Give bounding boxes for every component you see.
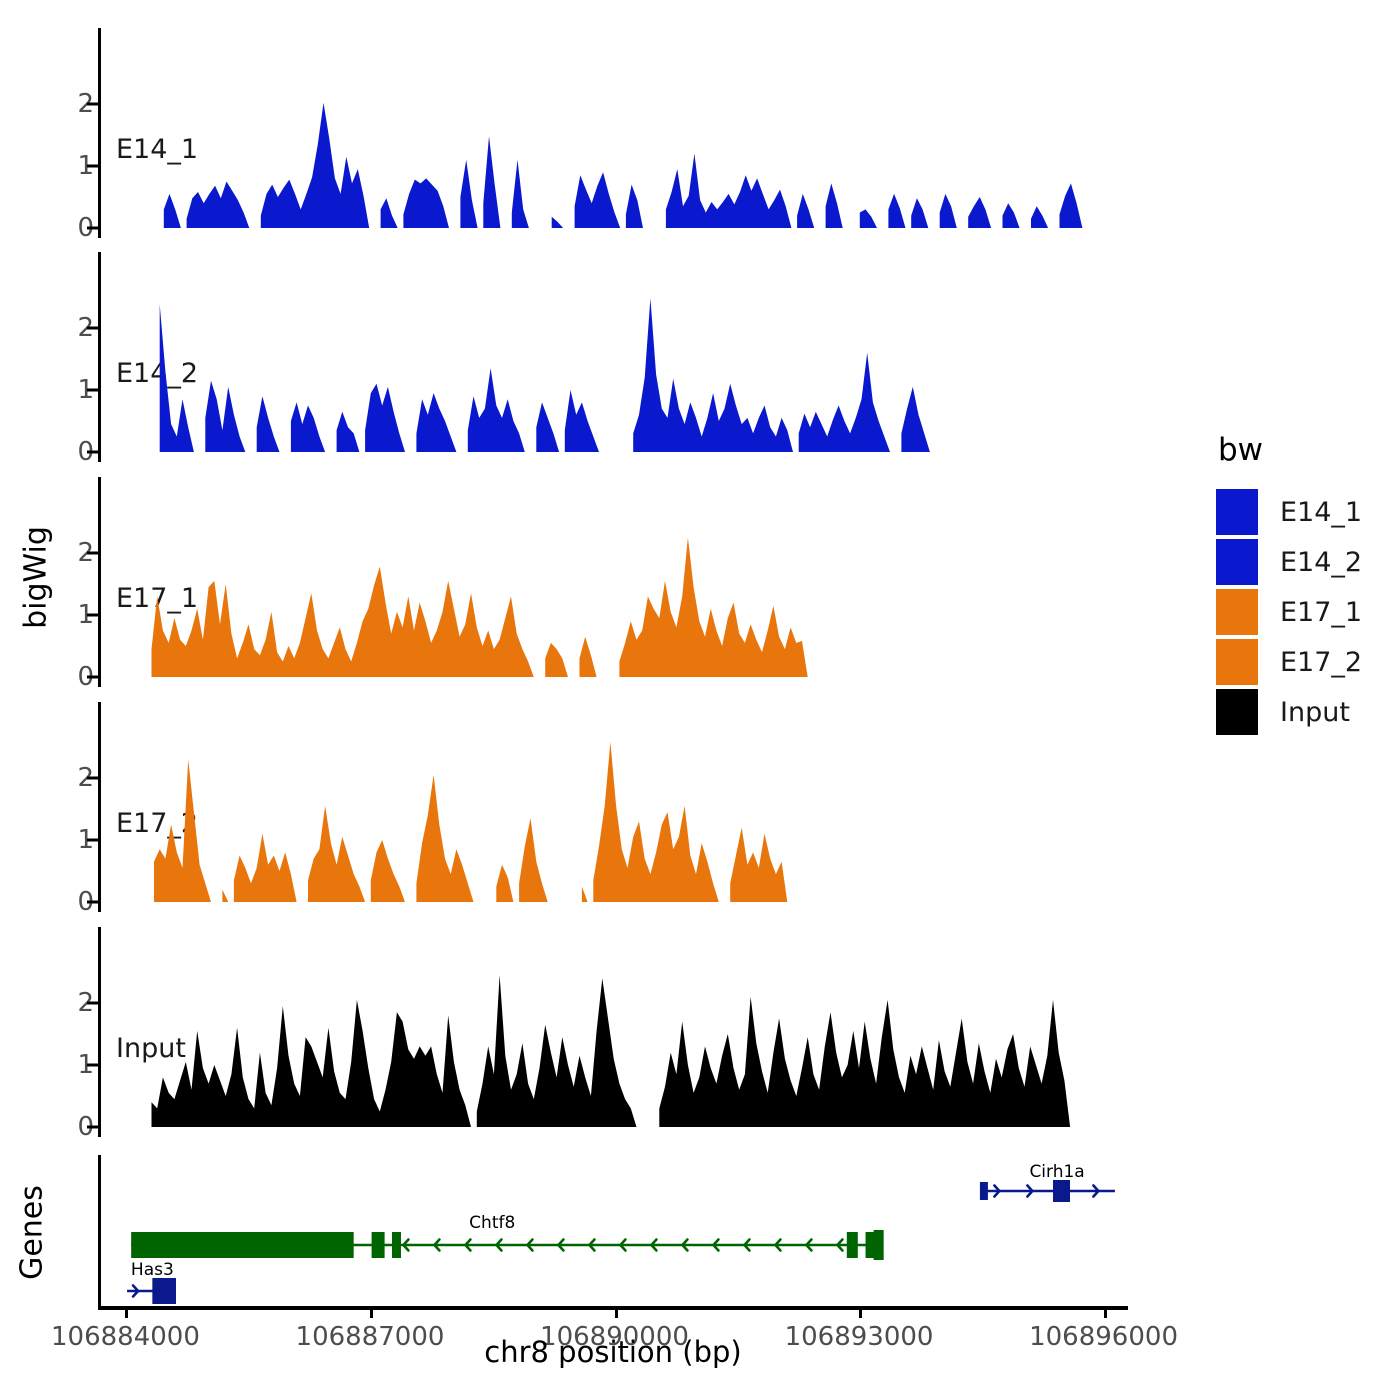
x-tick-mark xyxy=(615,1306,618,1318)
legend-item-e14_2[interactable]: E14_2 xyxy=(1216,538,1396,586)
x-tick-mark xyxy=(1104,1306,1107,1318)
legend-item-e17_1[interactable]: E17_1 xyxy=(1216,588,1396,636)
legend-title: bw xyxy=(1218,432,1396,468)
y-tick-mark xyxy=(87,165,98,168)
track-panel-e17_2: 012E17_2 xyxy=(98,702,1128,912)
y-tick-mark xyxy=(87,676,98,679)
y-tick-mark xyxy=(87,327,98,330)
legend-item-input[interactable]: Input xyxy=(1216,688,1396,736)
genes-drawing: Cirh1aChtf8Has3 xyxy=(101,1155,1128,1307)
track-plot-area xyxy=(101,927,1128,1137)
track-plot-area xyxy=(101,702,1128,912)
y-tick-mark xyxy=(87,777,98,780)
genes-track-panel: Cirh1aChtf8Has3 xyxy=(98,1155,1128,1310)
legend-item-e14_1[interactable]: E14_1 xyxy=(1216,488,1396,536)
legend-swatch xyxy=(1216,689,1258,735)
legend-swatch xyxy=(1216,639,1258,685)
legend-label: E14_1 xyxy=(1280,497,1362,528)
track-panel-input: 012Input xyxy=(98,927,1128,1137)
track-plot-area xyxy=(101,28,1128,238)
legend-items: E14_1E14_2E17_1E17_2Input xyxy=(1216,488,1396,736)
legend-label: E14_2 xyxy=(1280,547,1362,578)
gene-has3[interactable]: Has3 xyxy=(127,1260,176,1304)
x-tick-mark xyxy=(125,1306,128,1318)
legend-label: Input xyxy=(1280,697,1350,728)
legend: bw E14_1E14_2E17_1E17_2Input xyxy=(1216,432,1396,738)
track-panel-e14_1: 012E14_1 xyxy=(98,28,1128,238)
legend-swatch xyxy=(1216,539,1258,585)
y-tick-mark xyxy=(87,839,98,842)
gene-chtf8[interactable]: Chtf8 xyxy=(131,1213,884,1260)
legend-swatch xyxy=(1216,489,1258,535)
track-plot-area xyxy=(101,252,1128,462)
legend-item-e17_2[interactable]: E17_2 xyxy=(1216,638,1396,686)
x-axis-title: chr8 position (bp) xyxy=(98,1335,1128,1369)
y-tick-mark xyxy=(87,451,98,454)
y-tick-mark xyxy=(87,901,98,904)
gene-cirh1a[interactable]: Cirh1a xyxy=(980,1162,1115,1202)
gene-label-has3: Has3 xyxy=(131,1260,174,1280)
y-tick-mark xyxy=(87,227,98,230)
gene-label-cirh1a: Cirh1a xyxy=(1029,1162,1084,1182)
y-tick-mark xyxy=(87,389,98,392)
y-tick-mark xyxy=(87,614,98,617)
legend-label: E17_2 xyxy=(1280,647,1362,678)
x-tick-mark xyxy=(859,1306,862,1318)
y-tick-mark xyxy=(87,1126,98,1129)
bigwig-axis-title: bigWig xyxy=(19,498,54,658)
legend-label: E17_1 xyxy=(1280,597,1362,628)
genes-axis-title: Genes xyxy=(15,1163,50,1303)
legend-swatch xyxy=(1216,589,1258,635)
track-panel-e14_2: 012E14_2 xyxy=(98,252,1128,462)
y-tick-mark xyxy=(87,1002,98,1005)
y-tick-mark xyxy=(87,103,98,106)
y-tick-mark xyxy=(87,552,98,555)
gene-label-chtf8: Chtf8 xyxy=(469,1213,515,1233)
x-tick-mark xyxy=(370,1306,373,1318)
track-panel-e17_1: 012E17_1 xyxy=(98,477,1128,687)
y-tick-mark xyxy=(87,1064,98,1067)
track-plot-area xyxy=(101,477,1128,687)
